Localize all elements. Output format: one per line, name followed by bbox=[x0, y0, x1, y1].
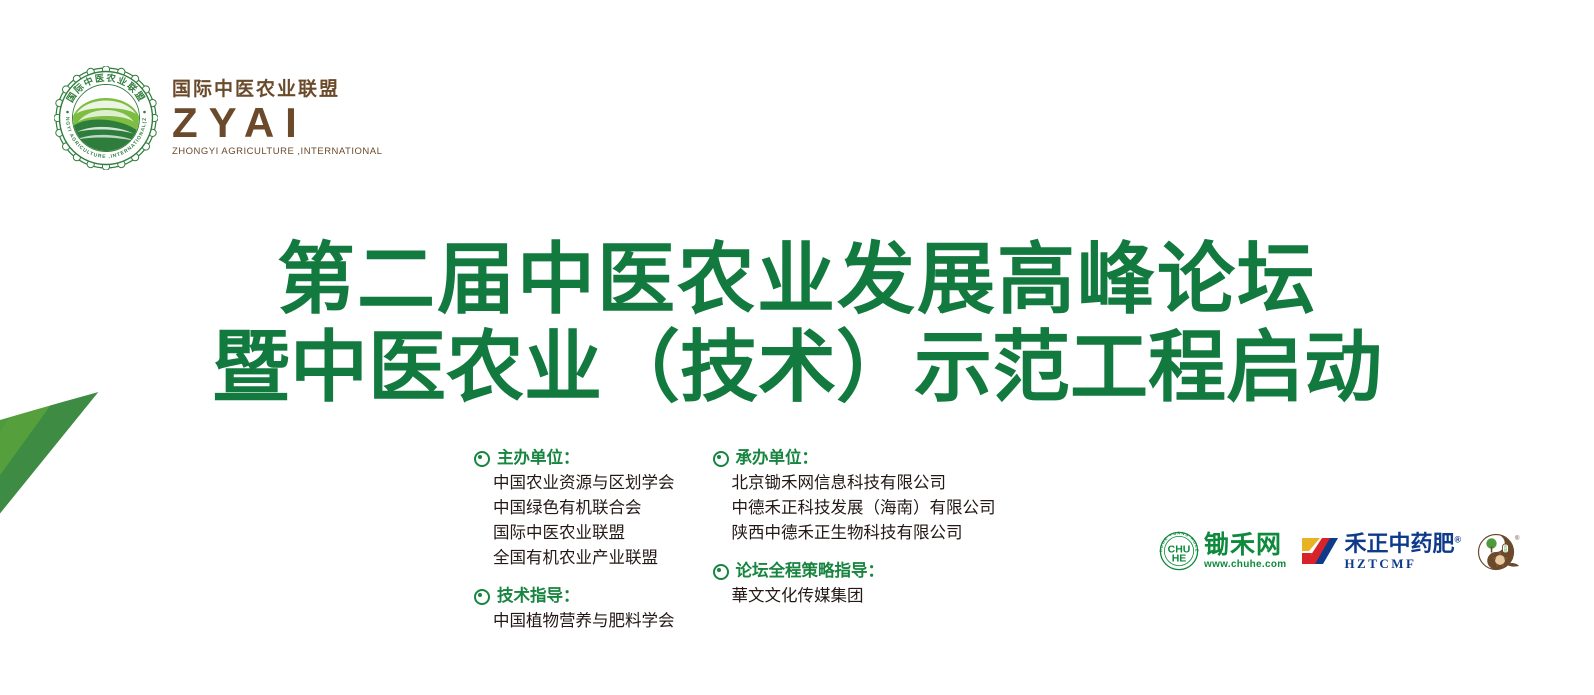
info-heading-label: 论坛全程策略指导： bbox=[736, 560, 885, 584]
sponsor-logo-chuhe: CHUHE YUANS HULES CHU HE 锄禾网 www.chuhe.c… bbox=[1158, 530, 1286, 572]
bullet-icon bbox=[474, 451, 490, 467]
hezheng-name-cn: 禾正中药肥® bbox=[1344, 533, 1461, 555]
info-item: 中国绿色有机联合会 bbox=[474, 496, 675, 521]
info-heading: 论坛全程策略指导： bbox=[713, 560, 996, 584]
info-group-co-organizer: 承办单位： 北京锄禾网信息科技有限公司 中德禾正科技发展（海南）有限公司 陕西中… bbox=[713, 447, 996, 546]
info-heading: 技术指导： bbox=[474, 585, 675, 609]
sponsor-logo-row: CHUHE YUANS HULES CHU HE 锄禾网 www.chuhe.c… bbox=[1158, 528, 1521, 574]
organizer-info: 主办单位： 中国农业资源与区划学会 中国绿色有机联合会 国际中医农业联盟 全国有… bbox=[474, 447, 996, 634]
chuhe-url: www.chuhe.com bbox=[1204, 560, 1286, 570]
registered-mark-icon: ® bbox=[1454, 534, 1461, 544]
hezheng-name-en: HZTCMF bbox=[1344, 557, 1461, 570]
info-column-left: 主办单位： 中国农业资源与区划学会 中国绿色有机联合会 国际中医农业联盟 全国有… bbox=[474, 447, 675, 634]
info-item: 全国有机农业产业联盟 bbox=[474, 546, 675, 571]
chuhe-seal-icon: CHUHE YUANS HULES CHU HE bbox=[1158, 530, 1200, 572]
zyai-seal-icon: 国际中医农业联盟 ZHONGYI AGRICULTURE .INTERNATIO… bbox=[54, 66, 158, 170]
info-heading-label: 主办单位： bbox=[497, 447, 580, 471]
info-item: 陕西中德禾正生物科技有限公司 bbox=[713, 521, 996, 546]
svg-text:HE: HE bbox=[1172, 553, 1187, 565]
info-heading: 主办单位： bbox=[474, 447, 675, 471]
info-item: 中国农业资源与区划学会 bbox=[474, 471, 675, 496]
hezheng-name-cn-text: 禾正中药肥 bbox=[1344, 531, 1454, 556]
info-heading: 承办单位： bbox=[713, 447, 996, 471]
hezheng-mark-icon bbox=[1300, 535, 1340, 567]
logo-name-en: ZHONGYI AGRICULTURE ,INTERNATIONAL bbox=[172, 147, 382, 157]
chuhe-name-cn: 锄禾网 bbox=[1204, 533, 1286, 558]
info-item: 中德禾正科技发展（海南）有限公司 bbox=[713, 496, 996, 521]
info-item: 華文文化传媒集团 bbox=[713, 584, 996, 609]
bullet-icon bbox=[713, 564, 729, 580]
info-column-right: 承办单位： 北京锄禾网信息科技有限公司 中德禾正科技发展（海南）有限公司 陕西中… bbox=[713, 447, 996, 609]
poster-canvas: 国际中医农业联盟 ZHONGYI AGRICULTURE .INTERNATIO… bbox=[0, 0, 1594, 695]
sponsor-logo-tree-root-emblem: 自 然 ® bbox=[1475, 528, 1521, 574]
info-item: 国际中医农业联盟 bbox=[474, 521, 675, 546]
info-heading-label: 承办单位： bbox=[736, 447, 819, 471]
info-group-strategy-guidance: 论坛全程策略指导： 華文文化传媒集团 bbox=[713, 560, 996, 609]
logo-wordmark: 国际中医农业联盟 ZYAI ZHONGYI AGRICULTURE ,INTER… bbox=[172, 79, 382, 157]
info-group-host: 主办单位： 中国农业资源与区划学会 中国绿色有机联合会 国际中医农业联盟 全国有… bbox=[474, 447, 675, 571]
info-group-technical-guidance: 技术指导： 中国植物营养与肥料学会 bbox=[474, 585, 675, 634]
organization-logo-lockup: 国际中医农业联盟 ZHONGYI AGRICULTURE .INTERNATIO… bbox=[52, 64, 388, 172]
registered-mark-icon: ® bbox=[1515, 535, 1520, 542]
logo-abbreviation: ZYAI bbox=[172, 102, 382, 144]
bullet-icon bbox=[713, 451, 729, 467]
sponsor-logo-hezheng: 禾正中药肥® HZTCMF bbox=[1297, 531, 1464, 572]
info-item: 中国植物营养与肥料学会 bbox=[474, 609, 675, 634]
bullet-icon bbox=[474, 589, 490, 605]
logo-name-cn: 国际中医农业联盟 bbox=[172, 79, 382, 101]
info-item: 北京锄禾网信息科技有限公司 bbox=[713, 471, 996, 496]
info-heading-label: 技术指导： bbox=[497, 585, 580, 609]
